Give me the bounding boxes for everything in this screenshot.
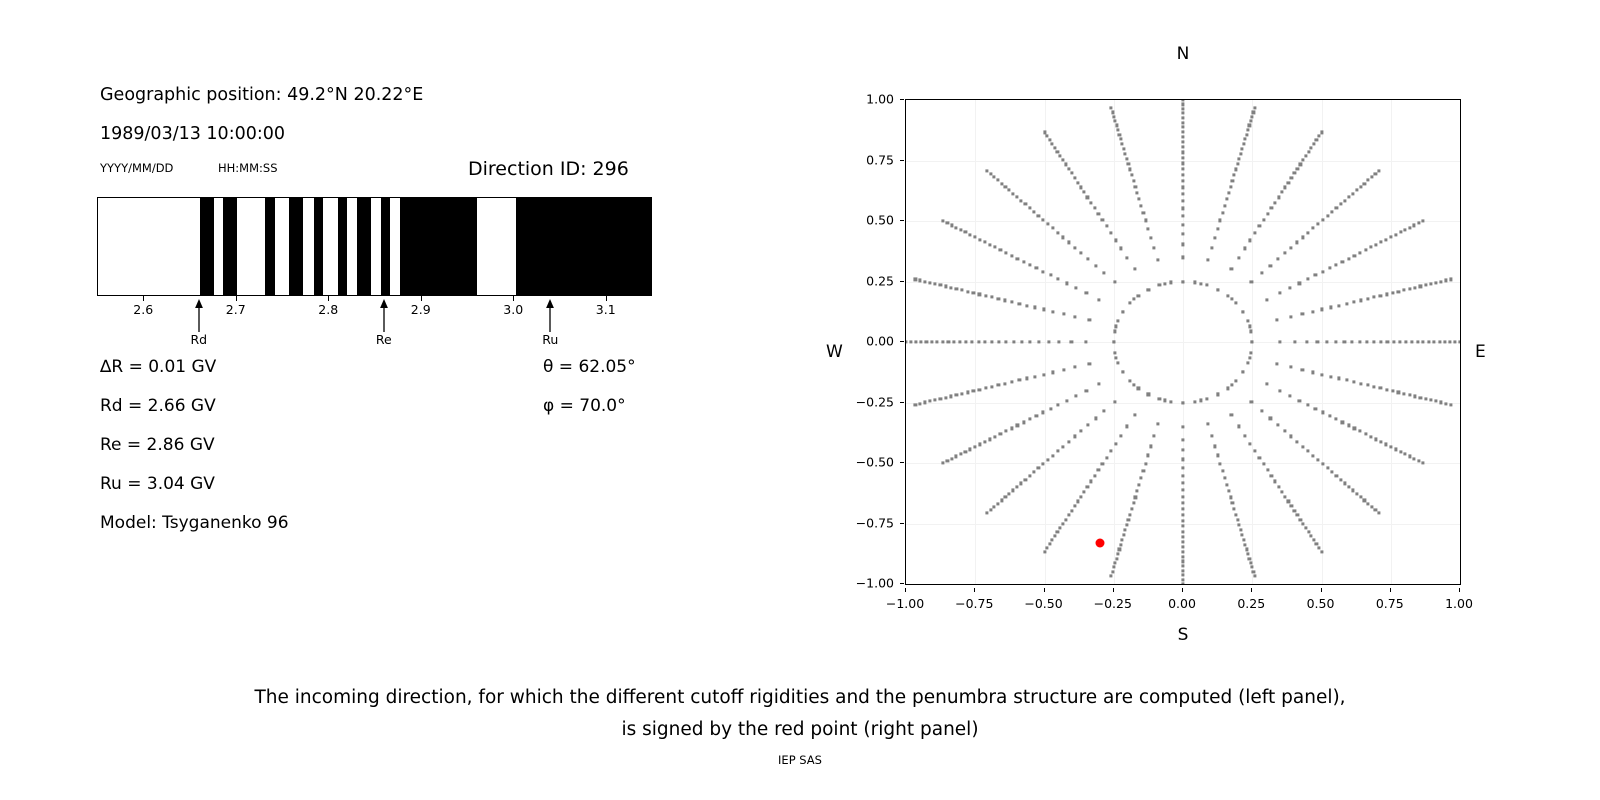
sky-map-point <box>1181 112 1184 115</box>
sky-map-ring-point <box>1193 281 1196 284</box>
sky-map-point <box>1181 207 1184 210</box>
sky-map-point <box>1314 274 1317 277</box>
sky-map-point <box>1086 423 1089 426</box>
sky-map-point <box>1181 488 1184 491</box>
sky-map-point <box>1358 340 1361 343</box>
parameter-row: Rd = 2.66 GV <box>100 396 216 416</box>
sky-map-point <box>1132 179 1135 182</box>
sky-map-point <box>1343 340 1346 343</box>
sky-map-point <box>1343 482 1346 485</box>
sky-map-point <box>1111 570 1114 573</box>
sky-map-point <box>1061 522 1064 525</box>
sky-map-point <box>1181 126 1184 129</box>
sky-map-point <box>990 340 993 343</box>
y-axis-tick-mark <box>900 583 904 584</box>
sky-map-point <box>984 387 987 390</box>
selected-direction-marker <box>1095 538 1104 547</box>
sky-map-point <box>1181 448 1184 451</box>
sky-map-point <box>1181 519 1184 522</box>
sky-map-point <box>1020 340 1023 343</box>
sky-map-point <box>1042 373 1045 376</box>
sky-map-point <box>1181 180 1184 183</box>
sky-map-point <box>1067 440 1070 443</box>
sky-map-point <box>919 402 922 405</box>
sky-map-point <box>1085 389 1088 392</box>
sky-map-point <box>1064 518 1067 521</box>
y-axis-tick-mark <box>900 402 904 403</box>
sky-map-point <box>1011 380 1014 383</box>
sky-map-point <box>960 392 963 395</box>
sky-map-point <box>1277 485 1280 488</box>
sky-map-point <box>1074 286 1077 289</box>
sky-map-point <box>1394 448 1397 451</box>
x-axis-ticks: −1.00−0.75−0.50−0.250.000.250.500.751.00 <box>905 588 1461 618</box>
sky-map-point <box>1144 462 1147 465</box>
sky-map-point <box>1181 130 1184 133</box>
sky-map-point <box>1048 542 1051 545</box>
sky-map-point <box>1121 142 1124 145</box>
sky-map-point <box>1210 246 1213 249</box>
sky-map-point <box>1076 500 1079 503</box>
sky-map-point <box>1233 507 1236 510</box>
sky-map-point <box>1115 557 1118 560</box>
sky-map-point <box>1269 417 1272 420</box>
sky-map-point <box>1429 282 1432 285</box>
sky-map-point <box>1311 371 1314 374</box>
sky-map-point <box>1359 382 1362 385</box>
sky-map-point <box>1289 315 1292 318</box>
sky-map-point <box>1109 231 1112 234</box>
penumbra-axis-tick-label: 3.0 <box>503 302 523 317</box>
sky-map-point <box>1317 458 1320 461</box>
gridline-horizontal <box>906 221 1460 222</box>
sky-map-point <box>989 508 992 511</box>
sky-map-point <box>1352 380 1355 383</box>
sky-map-point <box>1181 550 1184 553</box>
sky-map-point <box>1229 496 1232 499</box>
sky-map-point <box>1097 468 1100 471</box>
sky-map-point <box>1144 219 1147 222</box>
sky-map-point <box>1181 540 1184 543</box>
sky-map-point <box>973 235 976 238</box>
sky-map-point <box>1345 379 1348 382</box>
sky-map-point <box>1375 438 1378 441</box>
sky-map-point <box>1115 356 1118 359</box>
sky-map-point <box>1138 483 1141 486</box>
y-axis-tick-label: 0.50 <box>866 213 894 228</box>
sky-map-point <box>1238 524 1241 527</box>
sky-map-point <box>1181 438 1184 441</box>
sky-map-point <box>1230 298 1233 301</box>
sky-map-point <box>949 395 952 398</box>
sky-map-point <box>1334 340 1337 343</box>
sky-map-point <box>1280 191 1283 194</box>
penumbra-axis-tick-label: 2.8 <box>318 302 338 317</box>
sky-map-point <box>1266 212 1269 215</box>
sky-map-point <box>1367 179 1370 182</box>
sky-map-point <box>1074 394 1077 397</box>
sky-map-point <box>1444 279 1447 282</box>
y-axis-ticks: 1.000.750.500.250.00−0.25−0.50−0.75−1.00 <box>820 99 894 585</box>
sky-map-point <box>1059 526 1062 529</box>
sky-map-point <box>914 403 917 406</box>
sky-map-point <box>1073 435 1076 438</box>
sky-map-point <box>1312 454 1315 457</box>
sky-map-point <box>1132 383 1135 386</box>
date-format-hint: YYYY/MM/DD <box>100 161 173 175</box>
sky-map-point <box>1408 226 1411 229</box>
sky-map-point <box>1037 214 1040 217</box>
sky-map-point <box>1093 207 1096 210</box>
penumbra-forbidden-band <box>200 198 214 295</box>
sky-map-point <box>1439 280 1442 283</box>
sky-map-point <box>1352 300 1355 303</box>
sky-map-point <box>1249 442 1252 445</box>
sky-map-point <box>1028 263 1031 266</box>
sky-map-point <box>1035 414 1038 417</box>
x-axis-tick-label: −0.75 <box>955 596 993 611</box>
sky-map-point <box>1114 239 1117 242</box>
sky-map-point <box>1377 169 1380 172</box>
sky-map-point <box>984 294 987 297</box>
sky-map-point <box>1391 389 1394 392</box>
sky-map-point <box>1301 445 1304 448</box>
sky-map-point <box>1250 400 1253 403</box>
sky-map-point <box>1073 176 1076 179</box>
sky-map-point <box>1074 366 1077 369</box>
sky-map-point <box>966 391 969 394</box>
sky-map-point <box>1140 204 1143 207</box>
sky-map-point <box>1353 427 1356 430</box>
x-axis-tick-label: −0.25 <box>1094 596 1132 611</box>
sky-map-point <box>1321 463 1324 466</box>
sky-map-point <box>1266 468 1269 471</box>
sky-map-point <box>1093 474 1096 477</box>
sky-map-point <box>1328 414 1331 417</box>
sky-map-point <box>1245 133 1248 136</box>
sky-map-point <box>1311 310 1314 313</box>
sky-map-point <box>1250 115 1253 118</box>
sky-map-point <box>1296 514 1299 517</box>
sky-map-ring-point <box>1137 294 1140 297</box>
sky-map-point <box>958 340 961 343</box>
sky-map-point <box>1230 414 1233 417</box>
datetime-label: 1989/03/13 10:00:00 <box>100 124 285 144</box>
sky-map-point <box>1234 168 1237 171</box>
sky-map-ring-point <box>1226 294 1229 297</box>
sky-map-point <box>1301 368 1304 371</box>
sky-map-point <box>1037 340 1040 343</box>
y-axis-tick-mark <box>900 281 904 282</box>
sky-map-point <box>1321 373 1324 376</box>
sky-map-point <box>1427 340 1430 343</box>
sky-map-point <box>1317 135 1320 138</box>
penumbra-forbidden-band <box>400 198 477 295</box>
sky-map-point <box>1156 422 1159 425</box>
sky-map-point <box>1130 507 1133 510</box>
sky-map-point <box>1153 246 1156 249</box>
sky-map-point <box>1102 409 1105 412</box>
sky-map-point <box>1053 146 1056 149</box>
sky-map-point <box>1163 399 1166 402</box>
sky-map-point <box>1133 414 1136 417</box>
sky-map-point <box>1089 480 1092 483</box>
sky-map-point <box>986 169 989 172</box>
sky-map-point <box>941 340 944 343</box>
sky-map-point <box>1052 310 1055 313</box>
sky-map-ring-point <box>1246 320 1249 323</box>
sky-map-point <box>1293 172 1296 175</box>
sky-map-point <box>1110 107 1113 110</box>
penumbra-axis-tick-label: 2.6 <box>133 302 153 317</box>
sky-map-ring-point <box>1181 401 1184 404</box>
sky-map-point <box>944 396 947 399</box>
sky-map-point <box>919 279 922 282</box>
sky-map-point <box>1070 340 1073 343</box>
sky-map-point <box>1449 403 1452 406</box>
sky-map-point <box>1399 231 1402 234</box>
sky-map-point <box>1094 264 1097 267</box>
sky-map-point <box>1181 481 1184 484</box>
sky-map-point <box>1290 505 1293 508</box>
sky-map-point <box>1330 471 1333 474</box>
sky-map-point <box>1293 340 1296 343</box>
compass-south-label: S <box>1178 625 1189 645</box>
sky-map-point <box>1249 119 1252 122</box>
sky-map-point <box>1140 477 1143 480</box>
sky-map-point <box>1335 418 1338 421</box>
y-axis-tick-mark <box>900 160 904 161</box>
sky-map-point <box>1287 181 1290 184</box>
sky-map-point <box>1385 293 1388 296</box>
sky-map-ring-point <box>1147 393 1150 396</box>
sky-map-point <box>1034 375 1037 378</box>
parameter-row: Ru = 3.04 GV <box>100 474 215 494</box>
sky-map-plot <box>905 99 1461 585</box>
sky-map-point <box>1244 138 1247 141</box>
sky-map-point <box>1000 499 1003 502</box>
sky-map-point <box>1421 461 1424 464</box>
sky-map-point <box>1219 219 1222 222</box>
sky-map-point <box>1181 495 1184 498</box>
sky-map-point <box>1394 233 1397 236</box>
sky-map-point <box>1199 282 1202 285</box>
sky-map-point <box>1237 425 1240 428</box>
sky-map-point <box>1113 281 1116 284</box>
sky-map-point <box>1290 435 1293 438</box>
penumbra-forbidden-band <box>516 198 652 295</box>
sky-map-point <box>997 384 1000 387</box>
penumbra-marker-label-re: Re <box>376 332 392 347</box>
sky-map-point <box>1086 257 1089 260</box>
sky-map-ring-point <box>1251 340 1254 343</box>
sky-map-point <box>1225 198 1228 201</box>
sky-map-point <box>1355 189 1358 192</box>
sky-map-point <box>1379 294 1382 297</box>
sky-map-point <box>1314 407 1317 410</box>
sky-map-point <box>1219 462 1222 465</box>
sky-map-point <box>1004 496 1007 499</box>
sky-map-point <box>1359 185 1362 188</box>
sky-map-point <box>972 389 975 392</box>
sky-map-point <box>906 340 908 343</box>
sky-map-point <box>1115 325 1118 328</box>
sky-map-point <box>1374 172 1377 175</box>
sky-map-point <box>1119 138 1122 141</box>
sky-map-point <box>1181 121 1184 124</box>
sky-map-point <box>1241 534 1244 537</box>
sky-map-point <box>1046 458 1049 461</box>
sky-map-point <box>1000 182 1003 185</box>
sky-map-point <box>1295 241 1298 244</box>
sky-map-point <box>1056 231 1059 234</box>
sky-map-point <box>1124 529 1127 532</box>
sky-map-point <box>1134 496 1137 499</box>
sky-map-point <box>1301 236 1304 239</box>
sky-map-point <box>1230 383 1233 386</box>
sky-map-point <box>1231 179 1234 182</box>
sky-map-point <box>1181 193 1184 196</box>
sky-map-point <box>1051 227 1054 230</box>
sky-map-point <box>1221 469 1224 472</box>
sky-map-point <box>1111 111 1114 114</box>
sky-map-point <box>1094 417 1097 420</box>
sky-map-point <box>1134 185 1137 188</box>
sky-map-point <box>1045 546 1048 549</box>
sky-map-point <box>934 398 937 401</box>
penumbra-axis: 2.62.72.82.93.03.1RdReRu <box>97 296 652 346</box>
sky-map-point <box>1239 152 1242 155</box>
sky-map-point <box>1125 524 1128 527</box>
x-axis-tick-mark <box>1321 588 1322 592</box>
sky-map-point <box>1275 319 1278 322</box>
sky-map-point <box>1253 231 1256 234</box>
sky-map-point <box>1377 512 1380 515</box>
sky-map-point <box>1335 263 1338 266</box>
caption-line-1: The incoming direction, for which the di… <box>0 682 1600 714</box>
sky-map-point <box>1051 142 1054 145</box>
gridline-horizontal <box>906 342 1460 343</box>
sky-map-point <box>964 340 967 343</box>
sky-map-point <box>1088 362 1091 365</box>
sky-map-point <box>1363 499 1366 502</box>
sky-map-point <box>1181 156 1184 159</box>
sky-map-point <box>1181 140 1184 143</box>
sky-map-point <box>1116 552 1119 555</box>
sky-map-point <box>1010 254 1013 257</box>
sky-map-point <box>1110 574 1113 577</box>
sky-map-point <box>1004 251 1007 254</box>
sky-map-point <box>1223 477 1226 480</box>
sky-map-point <box>1302 159 1305 162</box>
sky-map-point <box>1020 482 1023 485</box>
sky-map-point <box>994 435 997 438</box>
parameter-row: ∆R = 0.01 GV <box>100 357 216 377</box>
sky-map-point <box>1122 534 1125 537</box>
sky-map-point <box>1270 207 1273 210</box>
sky-map-point <box>1018 302 1021 305</box>
sky-map-point <box>1011 192 1014 195</box>
sky-map-point <box>1052 371 1055 374</box>
sky-map-point <box>914 278 917 281</box>
sky-map-point <box>1086 196 1089 199</box>
direction-id-label: Direction ID: 296 <box>468 158 629 180</box>
sky-map-point <box>1223 204 1226 207</box>
sky-map-point <box>959 228 962 231</box>
x-axis-tick-label: 0.75 <box>1376 596 1404 611</box>
sky-map-point <box>1295 440 1298 443</box>
sky-map-point <box>1067 241 1070 244</box>
sky-map-point <box>971 340 974 343</box>
sky-map-point <box>977 340 980 343</box>
sky-map-point <box>950 224 953 227</box>
sky-map-point <box>1070 172 1073 175</box>
sky-map-point <box>1181 168 1184 171</box>
sky-map-point <box>1024 203 1027 206</box>
sky-map-point <box>1273 480 1276 483</box>
sky-map-point <box>1032 471 1035 474</box>
sky-map-ring-point <box>1112 340 1115 343</box>
penumbra-forbidden-band <box>265 198 274 295</box>
sky-map-point <box>1246 552 1249 555</box>
sky-map-point <box>1278 389 1281 392</box>
sky-map-point <box>925 340 928 343</box>
sky-map-point <box>1149 236 1152 239</box>
sky-map-point <box>924 401 927 404</box>
x-axis-tick-mark <box>1390 588 1391 592</box>
sky-map-point <box>1290 176 1293 179</box>
sky-map-ring-point <box>1169 281 1172 284</box>
sky-map-point <box>1126 425 1129 428</box>
sky-map-point <box>1414 395 1417 398</box>
sky-map-point <box>1119 543 1122 546</box>
sky-map-point <box>934 282 937 285</box>
sky-map-point <box>1345 302 1348 305</box>
sky-map-point <box>942 219 945 222</box>
sky-map-point <box>1233 173 1236 176</box>
sky-map-point <box>1304 526 1307 529</box>
sky-map-point <box>988 438 991 441</box>
sky-map-point <box>1359 496 1362 499</box>
sky-map-point <box>1433 340 1436 343</box>
sky-map-point <box>1249 561 1252 564</box>
sky-map-point <box>972 291 975 294</box>
sky-map-point <box>1098 383 1101 386</box>
sky-map-point <box>1041 463 1044 466</box>
sky-map-point <box>1236 518 1239 521</box>
sky-map-point <box>1250 566 1253 569</box>
sky-map-point <box>1085 292 1088 295</box>
sky-map-point <box>1399 450 1402 453</box>
sky-map-point <box>1298 282 1301 285</box>
sky-map-point <box>1065 399 1068 402</box>
sky-map-point <box>1276 257 1279 260</box>
sky-map-ring-point <box>1147 288 1150 291</box>
sky-map-point <box>1416 340 1419 343</box>
sky-map-point <box>978 443 981 446</box>
sky-map-point <box>1252 570 1255 573</box>
penumbra-bar <box>97 197 652 296</box>
sky-map-point <box>1080 429 1083 432</box>
sky-map-point <box>1248 557 1251 560</box>
sky-map-point <box>1453 340 1456 343</box>
sky-map-point <box>1028 474 1031 477</box>
sky-map-point <box>1241 147 1244 150</box>
sky-map-point <box>1341 421 1344 424</box>
sky-map-point <box>1260 409 1263 412</box>
sky-map-point <box>1058 340 1061 343</box>
sky-map-point <box>1299 163 1302 166</box>
